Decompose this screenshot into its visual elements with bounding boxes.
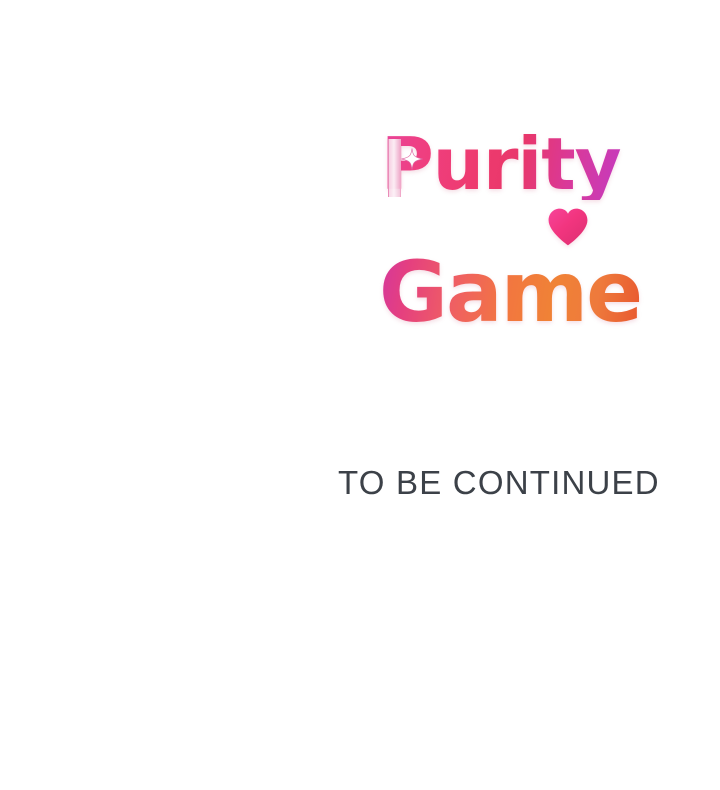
logo-block: Purity: [375, 128, 665, 343]
page-canvas: Purity: [0, 0, 720, 790]
logo-word-purity: Purity: [381, 128, 621, 200]
logo-line-game: Game: [379, 250, 669, 334]
logo-line-purity: Purity: [381, 128, 671, 200]
logo-word-game: Game: [379, 250, 641, 334]
heart-icon: [547, 206, 589, 248]
to-be-continued-text: TO BE CONTINUED: [338, 463, 668, 503]
